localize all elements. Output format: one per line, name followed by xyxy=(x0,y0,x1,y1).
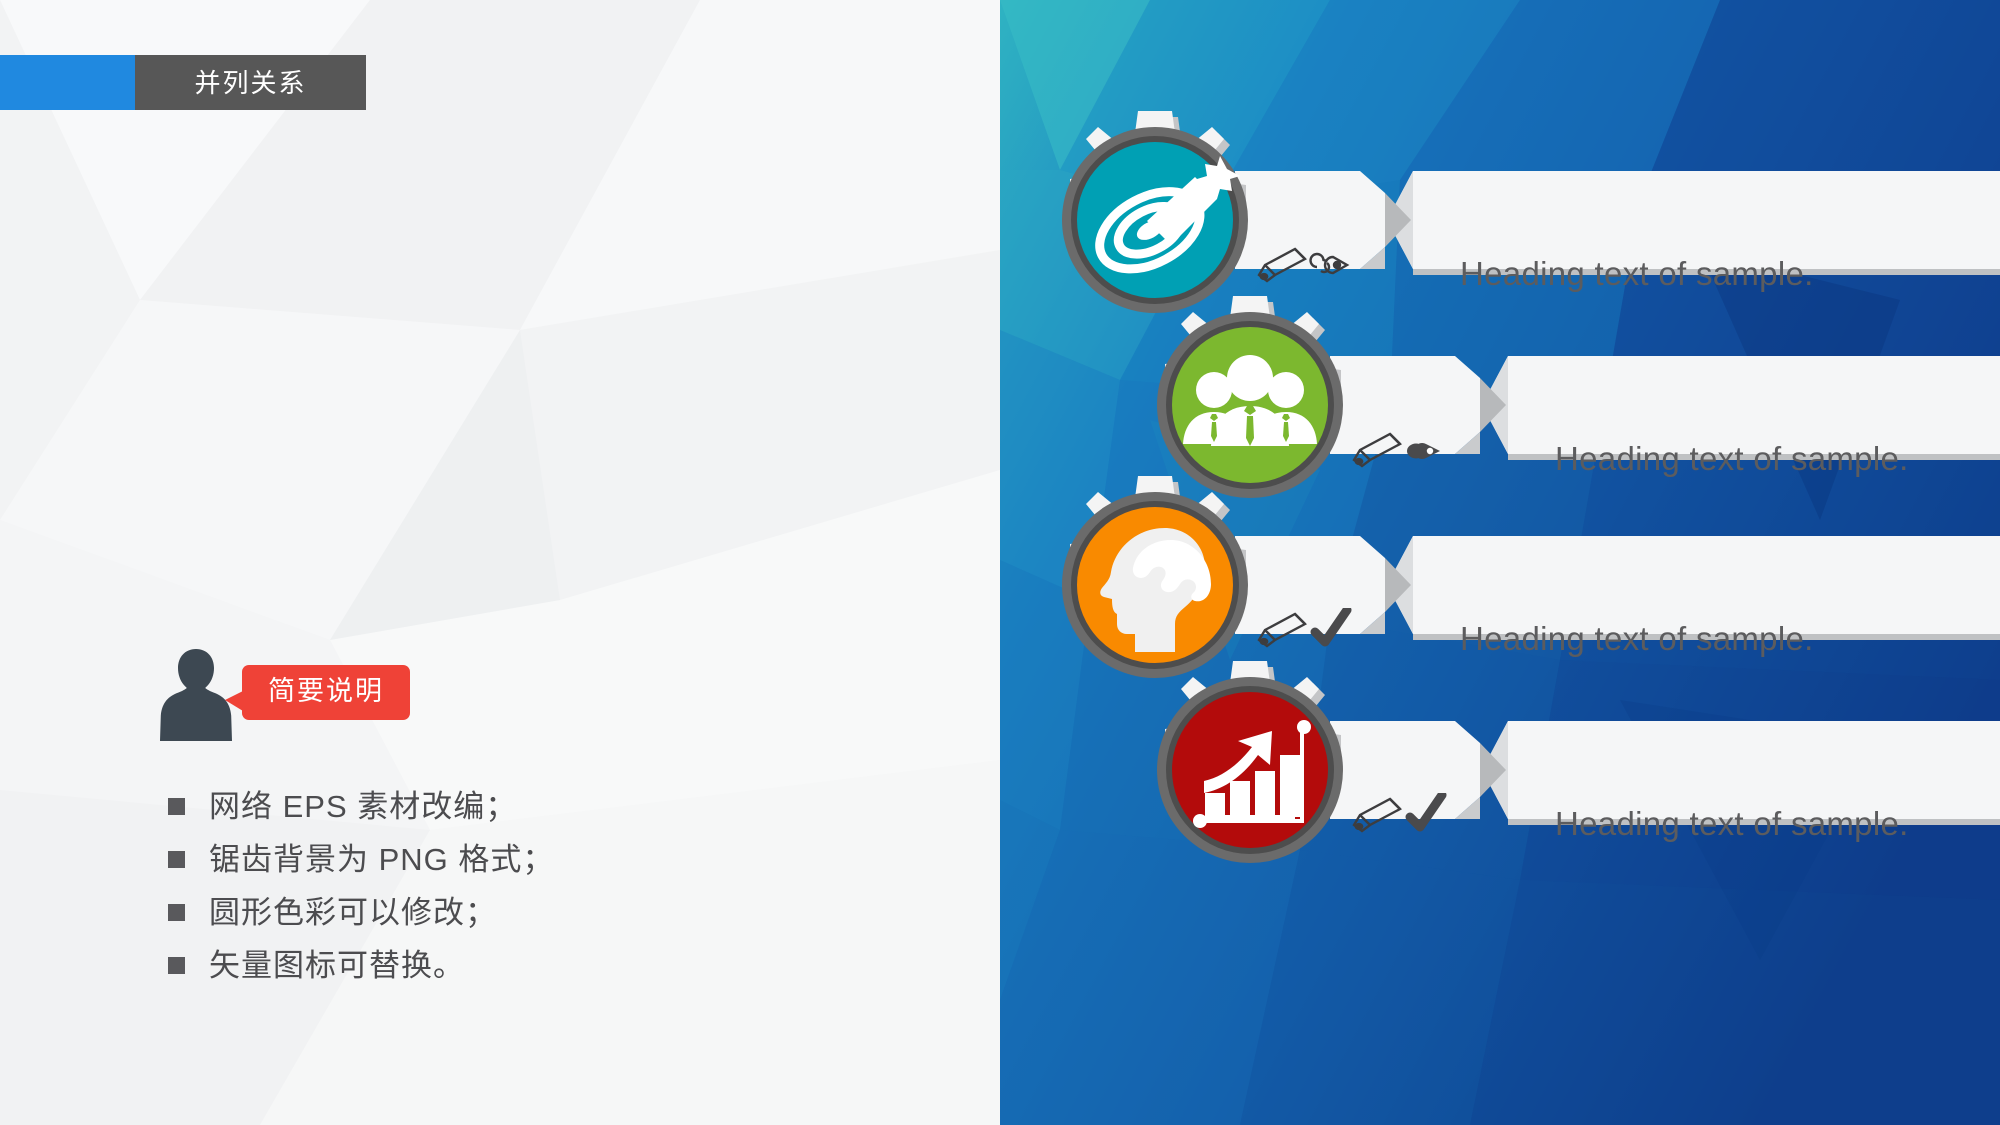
process-rows: Heading text of sample. xyxy=(0,0,2000,1125)
checkmark-icon xyxy=(1315,610,1347,642)
ribbon-heading-3: Heading text of sample. xyxy=(1460,622,1814,655)
checkmark-icon xyxy=(1410,795,1442,827)
gear-4 xyxy=(1135,655,1365,885)
ribbon-tab-icons-3 xyxy=(1255,608,1365,654)
gear-color-circle-2 xyxy=(1172,327,1328,483)
pen-nib-filled-icon xyxy=(1407,443,1440,459)
ribbon-tab-icons-1 xyxy=(1255,245,1365,287)
ribbon-heading-1: Heading text of sample. xyxy=(1460,257,1814,290)
process-row: Heading text of sample. xyxy=(1135,655,2000,895)
pen-nib-icon xyxy=(1311,254,1347,273)
ribbon-tab-icons-4 xyxy=(1350,793,1460,839)
ribbon-tab-icons-2 xyxy=(1350,430,1460,472)
slide-canvas: 并列关系 简要说明 网络 EPS 素材改编； 锯齿背景为 PNG xyxy=(0,0,2000,1125)
ribbon-heading-4: Heading text of sample. xyxy=(1555,807,1909,840)
